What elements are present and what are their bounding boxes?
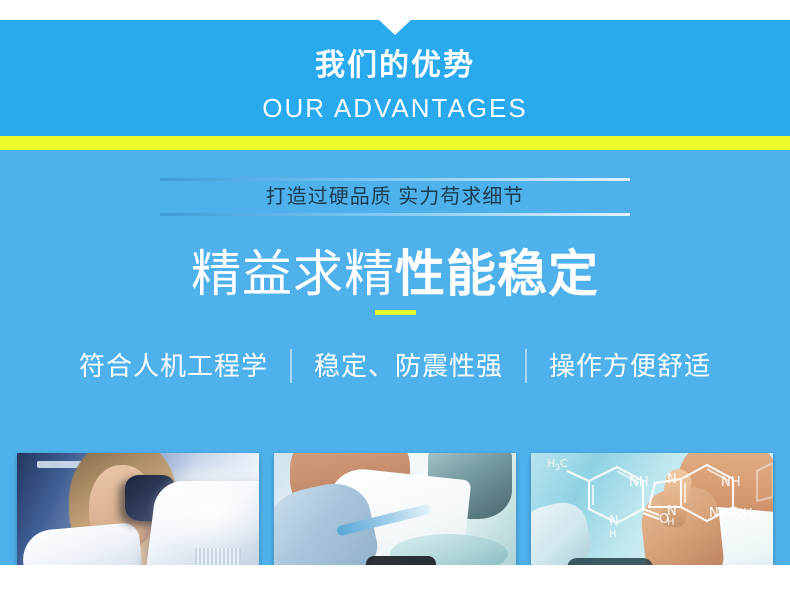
svg-text:H: H: [609, 529, 617, 540]
banner-title-en: OUR ADVANTAGES: [0, 95, 790, 121]
bottom-white-band: [0, 565, 790, 591]
photo-strip: H 3 C NH O N H N N H NH N NH 2: [0, 453, 790, 578]
banner-title-cn: 我们的优势: [0, 51, 790, 81]
feature-divider-1: [290, 349, 292, 383]
feature-list: 符合人机工程学 稳定、防震性强 操作方便舒适: [0, 349, 790, 383]
photo1-light-glow: [17, 453, 259, 578]
headline: 精益求精性能稳定: [0, 244, 790, 304]
feature-divider-2: [525, 349, 527, 383]
svg-text:C: C: [560, 457, 568, 470]
feature-item-2: 稳定、防震性强: [292, 353, 525, 379]
photo-molecule-hologram: H 3 C NH O N H N N H NH N NH 2: [531, 453, 773, 578]
photo-man-pipette: [274, 453, 516, 578]
tagline-rule-top: [160, 178, 630, 181]
photo3-hologram-overlay: H 3 C NH O N H N N H NH N NH 2: [531, 453, 773, 578]
svg-text:N: N: [709, 506, 719, 521]
feature-item-3: 操作方便舒适: [527, 353, 733, 379]
header-banner: 我们的优势 OUR ADVANTAGES: [0, 20, 790, 136]
headline-light-part: 精益求精: [191, 246, 395, 302]
svg-text:N: N: [609, 514, 619, 529]
svg-text:NH: NH: [721, 475, 741, 490]
svg-text:NH: NH: [733, 507, 753, 522]
yellow-divider-strip: [0, 136, 790, 150]
tagline-rule-bottom: [160, 213, 630, 216]
triangle-down-icon: [379, 20, 411, 35]
advantages-page: 我们的优势 OUR ADVANTAGES 打造过硬品质 实力苟求细节 精益求精性…: [0, 0, 790, 591]
photo-woman-microscope: [17, 453, 259, 578]
feature-item-1: 符合人机工程学: [57, 353, 290, 379]
accent-underline-bar: [375, 310, 416, 315]
svg-text:NH: NH: [629, 475, 649, 490]
svg-text:2: 2: [753, 515, 759, 525]
svg-text:N: N: [667, 472, 677, 487]
tagline-text: 打造过硬品质 实力苟求细节: [0, 187, 790, 207]
headline-bold-part: 性能稳定: [395, 246, 599, 302]
svg-text:H: H: [667, 517, 675, 528]
